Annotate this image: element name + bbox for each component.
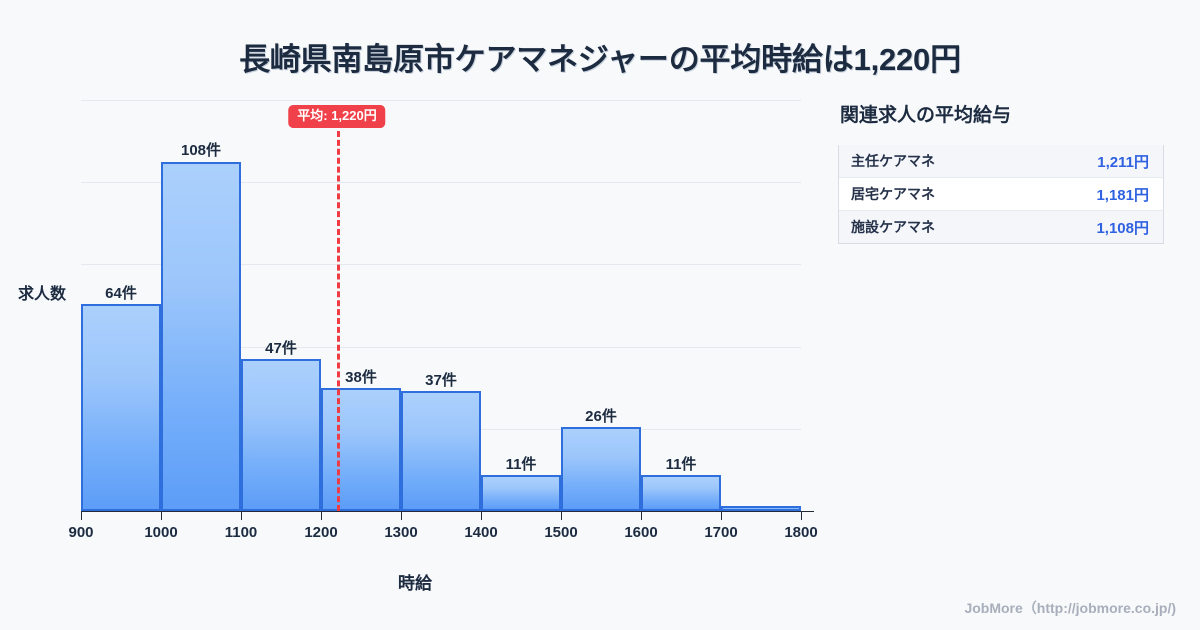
x-tick-mark bbox=[721, 511, 722, 520]
gridline bbox=[81, 100, 801, 101]
table-row: 居宅ケアマネ1,181円 bbox=[839, 178, 1163, 211]
related-salary-title: 関連求人の平均給与 bbox=[840, 100, 1168, 127]
x-tick-label: 1600 bbox=[624, 524, 657, 541]
x-tick-label: 1200 bbox=[304, 524, 337, 541]
average-line bbox=[337, 131, 340, 511]
table-row: 施設ケアマネ1,108円 bbox=[839, 211, 1163, 244]
x-tick-mark bbox=[241, 511, 242, 520]
x-tick-mark bbox=[641, 511, 642, 520]
x-tick-label: 1500 bbox=[544, 524, 577, 541]
bar-value-label: 64件 bbox=[105, 282, 137, 303]
related-salary-label: 主任ケアマネ bbox=[851, 151, 935, 171]
bar bbox=[81, 304, 161, 511]
histogram-chart: 求人数 900100011001200130014001500160017001… bbox=[0, 0, 830, 630]
bar bbox=[401, 391, 481, 511]
x-tick-label: 1800 bbox=[784, 524, 817, 541]
bar-value-label: 47件 bbox=[265, 337, 297, 358]
bar-value-label: 108件 bbox=[181, 139, 221, 160]
bar-value-label: 37件 bbox=[425, 369, 457, 390]
related-salary-value: 1,181円 bbox=[1096, 184, 1149, 205]
bar-value-label: 11件 bbox=[506, 453, 537, 474]
x-tick-label: 1300 bbox=[384, 524, 417, 541]
x-tick-mark bbox=[481, 511, 482, 520]
x-tick-mark bbox=[81, 511, 82, 520]
related-salary-label: 居宅ケアマネ bbox=[851, 184, 935, 204]
bar bbox=[321, 388, 401, 511]
bar bbox=[641, 475, 721, 511]
x-tick-label: 1000 bbox=[144, 524, 177, 541]
table-row: 主任ケアマネ1,211円 bbox=[839, 145, 1163, 178]
related-salary-value: 1,211円 bbox=[1097, 151, 1149, 172]
bar bbox=[241, 359, 321, 511]
x-tick-mark bbox=[401, 511, 402, 520]
x-tick-label: 900 bbox=[68, 524, 93, 541]
x-tick-label: 1100 bbox=[225, 524, 258, 541]
x-axis-line bbox=[81, 511, 814, 512]
average-badge: 平均: 1,220円 bbox=[288, 105, 385, 128]
related-salary-table: 主任ケアマネ1,211円居宅ケアマネ1,181円施設ケアマネ1,108円 bbox=[838, 145, 1164, 244]
x-tick-label: 1400 bbox=[464, 524, 497, 541]
plot-area bbox=[81, 100, 801, 511]
bar-value-label: 38件 bbox=[345, 366, 377, 387]
watermark: JobMore（http://jobmore.co.jp/) bbox=[964, 598, 1176, 618]
x-tick-label: 1700 bbox=[704, 524, 737, 541]
x-tick-mark bbox=[801, 511, 802, 520]
y-axis-title: 求人数 bbox=[18, 280, 66, 304]
bar-value-label: 11件 bbox=[666, 453, 697, 474]
bar bbox=[561, 427, 641, 511]
x-tick-mark bbox=[561, 511, 562, 520]
bar bbox=[161, 162, 241, 512]
bar-value-label: 26件 bbox=[585, 405, 617, 426]
x-axis-title: 時給 bbox=[0, 569, 830, 594]
related-salary-panel: 関連求人の平均給与 主任ケアマネ1,211円居宅ケアマネ1,181円施設ケアマネ… bbox=[838, 100, 1168, 244]
x-tick-mark bbox=[321, 511, 322, 520]
x-tick-mark bbox=[161, 511, 162, 520]
related-salary-value: 1,108円 bbox=[1096, 217, 1149, 238]
related-salary-label: 施設ケアマネ bbox=[851, 217, 935, 237]
bar bbox=[481, 475, 561, 511]
